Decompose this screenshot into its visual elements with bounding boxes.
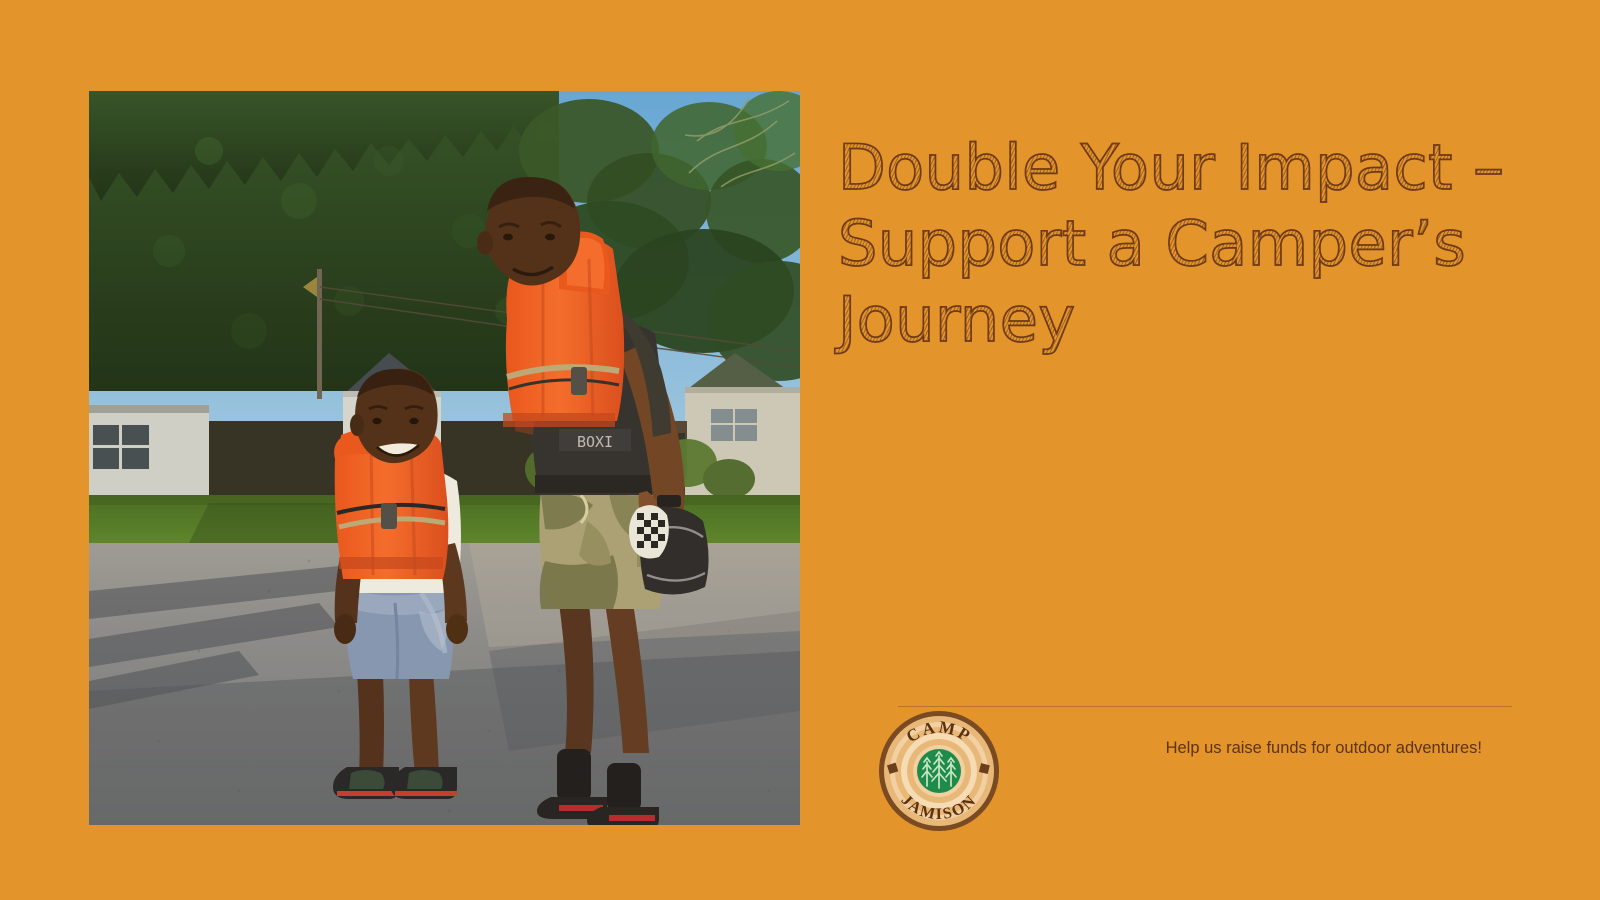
page-title: Double Your Impact –Support a Camper’sJo…: [838, 130, 1528, 358]
slide-canvas: BOXI: [0, 0, 1600, 900]
pine-trees-icon: [922, 752, 956, 788]
camp-photo-illustration: BOXI: [89, 91, 800, 825]
camp-jamison-logo: CAMP JAMISON: [876, 708, 1002, 834]
footer-tagline: Help us raise funds for outdoor adventur…: [1166, 737, 1482, 759]
camp-jamison-logo-mark: CAMP JAMISON: [876, 708, 1002, 834]
headline-line-2: Support a Camper’s: [838, 207, 1466, 280]
headline-line-3: Journey: [838, 283, 1076, 356]
headline-line-1: Double Your Impact –: [838, 131, 1505, 204]
camp-photo: BOXI: [89, 91, 800, 825]
footer-divider: [898, 706, 1512, 707]
